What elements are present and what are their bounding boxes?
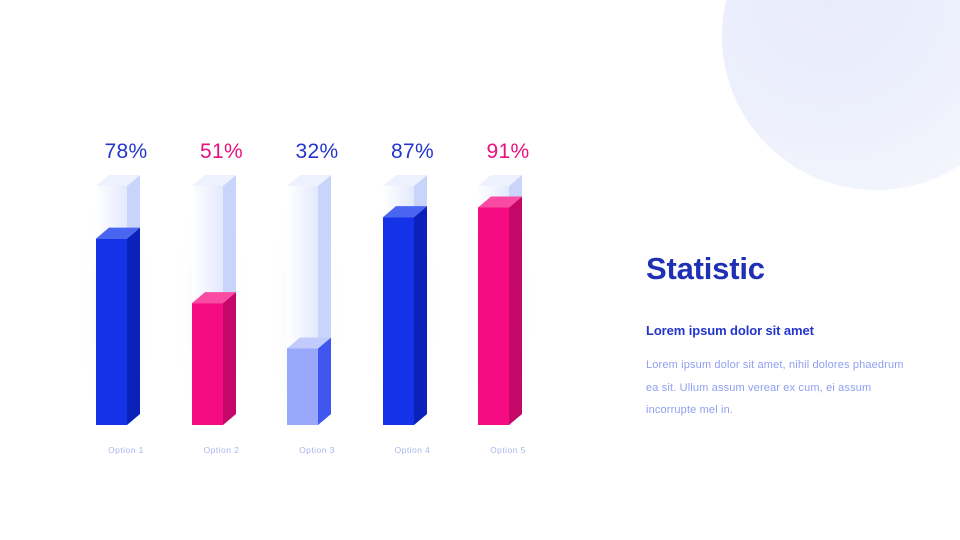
bar-fill-front-face <box>96 239 127 425</box>
panel-body-text: Lorem ipsum dolor sit amet, nihil dolore… <box>646 354 904 422</box>
bar-fill-side-face <box>223 292 236 425</box>
bar-graphic <box>478 0 574 540</box>
bar-fill-front-face <box>192 303 223 425</box>
bar-fill-front-face <box>478 208 509 425</box>
page-title: Statistic <box>646 252 926 286</box>
bar-fill-front-face <box>383 217 414 425</box>
bar-fill-side-face <box>127 228 140 425</box>
bar-category-label: Option 1 <box>96 445 156 455</box>
bar-chart: 78%Option 151%Option 232%Option 387%Opti… <box>0 0 600 540</box>
bar-fill-side-face <box>318 338 331 425</box>
bar-fill-side-face <box>414 206 427 425</box>
decorative-circle <box>722 0 960 190</box>
bar-category-label: Option 4 <box>383 445 443 455</box>
bar-column <box>478 0 574 540</box>
text-panel: Statistic Lorem ipsum dolor sit amet Lor… <box>646 252 926 422</box>
panel-subtitle: Lorem ipsum dolor sit amet <box>646 323 926 338</box>
bar-fill-side-face <box>509 197 522 425</box>
bar-category-label: Option 2 <box>192 445 252 455</box>
bar-category-label: Option 3 <box>287 445 347 455</box>
bar-fill-front-face <box>287 349 318 425</box>
bar-category-label: Option 5 <box>478 445 538 455</box>
bar-group[interactable]: 91%Option 5 <box>478 0 574 540</box>
